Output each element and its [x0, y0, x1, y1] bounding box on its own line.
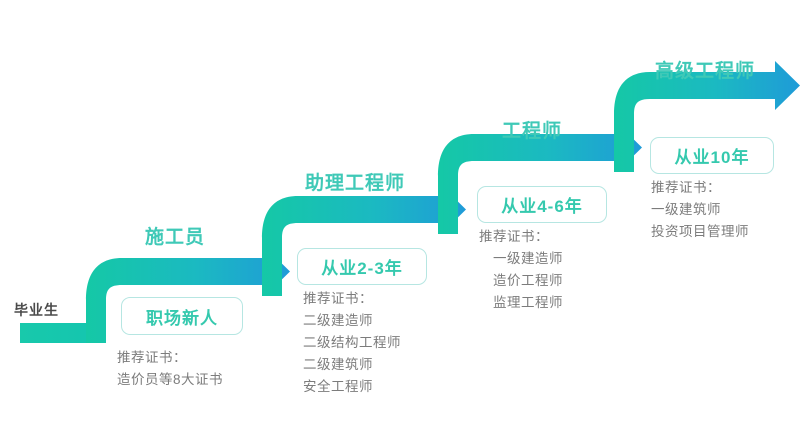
step-details-2: 推荐证书： 二级建造师 二级结构工程师 二级建筑师 安全工程师 — [303, 288, 401, 398]
step-pill-2[interactable]: 从业2-3年 — [297, 248, 427, 285]
start-label: 毕业生 — [14, 300, 59, 320]
details-item-2-1: 二级结构工程师 — [303, 332, 401, 354]
details-heading-2: 推荐证书： — [303, 288, 401, 310]
details-heading-3: 推荐证书： — [479, 226, 563, 248]
details-item-3-2: 监理工程师 — [493, 292, 563, 314]
step-title-3: 工程师 — [502, 116, 562, 143]
step-pill-1-label: 职场新人 — [146, 304, 218, 329]
details-item-4-1: 投资项目管理师 — [651, 221, 749, 243]
step-pill-4[interactable]: 从业10年 — [650, 137, 774, 174]
details-heading-1: 推荐证书： — [117, 347, 223, 369]
step-details-4: 推荐证书： 一级建筑师 投资项目管理师 — [651, 177, 749, 243]
details-item-2-3: 安全工程师 — [303, 376, 401, 398]
details-item-3-0: 一级建造师 — [493, 248, 563, 270]
details-item-4-0: 一级建筑师 — [651, 199, 749, 221]
step-title-2: 助理工程师 — [305, 168, 405, 195]
step-pill-1[interactable]: 职场新人 — [121, 297, 243, 335]
step-pill-3-label: 从业4-6年 — [501, 192, 583, 217]
step-title-4: 高级工程师 — [655, 56, 755, 83]
details-item-1-0: 造价员等8大证书 — [117, 369, 223, 391]
career-ladder-diagram: 毕业生 施工员 职场新人 推荐证书： 造价员等8大证书 助理工程师 从业2-3年… — [0, 0, 800, 438]
step-pill-2-label: 从业2-3年 — [321, 254, 403, 279]
details-item-3-1: 造价工程师 — [493, 270, 563, 292]
details-item-2-0: 二级建造师 — [303, 310, 401, 332]
step-details-3: 推荐证书： 一级建造师 造价工程师 监理工程师 — [479, 226, 563, 314]
details-item-2-2: 二级建筑师 — [303, 354, 401, 376]
details-heading-4: 推荐证书： — [651, 177, 749, 199]
step-pill-3[interactable]: 从业4-6年 — [477, 186, 607, 223]
step-pill-4-label: 从业10年 — [675, 143, 750, 168]
step-title-1: 施工员 — [145, 222, 205, 249]
step-details-1: 推荐证书： 造价员等8大证书 — [117, 347, 223, 391]
